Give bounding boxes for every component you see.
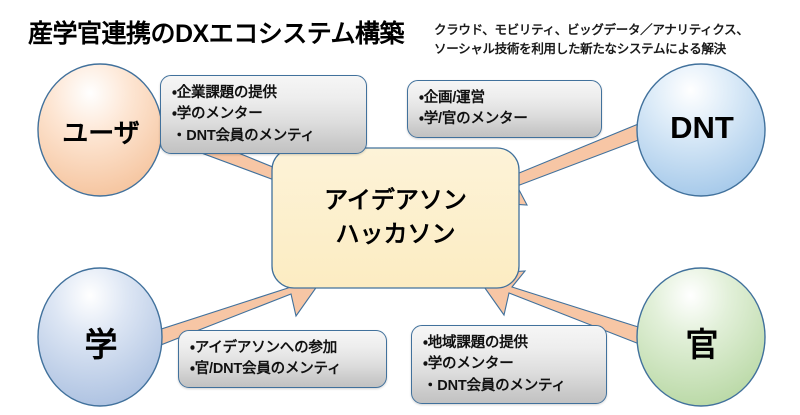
center-node[interactable] bbox=[272, 148, 519, 288]
diagram-canvas: 産学官連携のDXエコシステム構築 クラウド、モビリティ、ビッグデータ／アナリティ… bbox=[0, 0, 800, 415]
callout-item: ・官/DNT会員のメンティ bbox=[190, 359, 376, 380]
callout-upper-left[interactable]: ・企業課題の提供 ・学のメンター ・DNT会員のメンティ bbox=[160, 75, 367, 154]
callout-upper-right[interactable]: ・企画/運営 ・学/官のメンター bbox=[407, 80, 602, 138]
diagram-vector-layer bbox=[0, 0, 800, 415]
callout-item: ・学のメンター bbox=[172, 104, 356, 125]
callout-lower-left[interactable]: ・アイデアソンへの参加 ・官/DNT会員のメンティ bbox=[178, 330, 387, 388]
callout-item: ・学のメンター bbox=[423, 354, 596, 375]
node-user[interactable] bbox=[38, 64, 162, 196]
callout-item: ・アイデアソンへの参加 bbox=[190, 338, 376, 359]
callout-item: ・企画/運営 bbox=[419, 88, 591, 109]
callout-item: ・地域課題の提供 bbox=[423, 333, 596, 354]
node-kan[interactable] bbox=[637, 268, 765, 406]
callout-item: ・DNT会員のメンティ bbox=[423, 376, 596, 397]
node-dnt[interactable] bbox=[637, 64, 765, 196]
callout-lower-right[interactable]: ・地域課題の提供 ・学のメンター ・DNT会員のメンティ bbox=[411, 325, 607, 404]
node-gaku[interactable] bbox=[38, 268, 162, 406]
callout-item: ・DNT会員のメンティ bbox=[172, 126, 356, 147]
callout-item: ・学/官のメンター bbox=[419, 109, 591, 130]
callout-item: ・企業課題の提供 bbox=[172, 83, 356, 104]
